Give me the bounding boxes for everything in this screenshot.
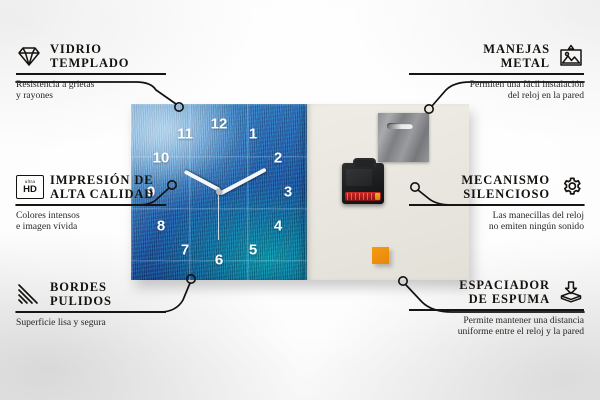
callout-desc: Superficie lisa y segura [16, 317, 166, 329]
ultra-hd-icon: ultra HD [16, 175, 42, 199]
callout-rule [16, 311, 166, 313]
callout-impresion-alta-calidad: ultra HD IMPRESIÓN DE ALTA CALIDAD Color… [16, 173, 166, 233]
infographic-canvas: 12 1 2 3 4 5 6 7 8 9 10 11 [0, 0, 600, 400]
movement-hanger-tab [353, 158, 376, 167]
callout-title: BORDES PULIDOS [50, 280, 112, 308]
polished-edge-icon [16, 282, 42, 306]
clock-numeral-12: 12 [211, 117, 228, 132]
callout-mecanismo-silencioso: MECANISMO SILENCIOSO Las manecillas del … [409, 173, 584, 233]
clock-numeral-11: 11 [177, 127, 193, 142]
callout-title: MECANISMO SILENCIOSO [461, 173, 550, 201]
foam-spacer-icon [558, 280, 584, 304]
callout-rule [409, 204, 584, 206]
hanger-keyhole-slot [387, 123, 413, 129]
callout-desc: Colores intensos e imagen vívida [16, 210, 166, 233]
clock-numeral-2: 2 [274, 151, 282, 166]
callout-title: VIDRIO TEMPLADO [50, 42, 129, 70]
callout-title: MANEJAS METAL [483, 42, 550, 70]
ultra-hd-icon-main: HD [23, 185, 37, 195]
callout-vidrio-templado: VIDRIO TEMPLADO Resistencia a grietas y … [16, 42, 166, 102]
gear-icon [558, 175, 584, 199]
picture-frame-icon [558, 44, 584, 68]
clock-numeral-7: 7 [181, 243, 189, 258]
second-hand [218, 192, 219, 240]
foam-spacer [372, 247, 389, 264]
callout-rule [16, 73, 166, 75]
clock-numeral-6: 6 [215, 253, 223, 268]
clock-numeral-1: 1 [249, 127, 257, 142]
callout-desc: Permite mantener una distancia uniforme … [409, 315, 584, 338]
hands-center-cap [216, 189, 222, 195]
callout-desc: Permiten una fácil instalación del reloj… [409, 79, 584, 102]
callout-desc: Resistencia a grietas y rayones [16, 79, 166, 102]
clock-numeral-3: 3 [284, 185, 292, 200]
movement-plate [346, 169, 372, 186]
callout-title: ESPACIADOR DE ESPUMA [459, 278, 550, 306]
diamond-icon [16, 44, 42, 68]
callout-bordes-pulidos: BORDES PULIDOS Superficie lisa y segura [16, 280, 166, 328]
clock-numeral-4: 4 [274, 219, 282, 234]
callout-rule [409, 73, 584, 75]
callout-title: IMPRESIÓN DE ALTA CALIDAD [50, 173, 154, 201]
callout-desc: Las manecillas del reloj no emiten ningú… [409, 210, 584, 233]
clock-numeral-5: 5 [249, 243, 257, 258]
callout-manejas-metal: MANEJAS METAL Permiten una fácil instala… [409, 42, 584, 102]
callout-rule [409, 309, 584, 311]
quartz-movement [342, 163, 384, 204]
aa-battery [345, 192, 381, 201]
callout-espaciador-espuma: ESPACIADOR DE ESPUMA Permite mantener un… [409, 278, 584, 338]
clock-numeral-10: 10 [153, 151, 170, 166]
metal-hanger-plate [378, 113, 429, 162]
callout-rule [16, 204, 166, 206]
battery-bands [347, 193, 374, 200]
